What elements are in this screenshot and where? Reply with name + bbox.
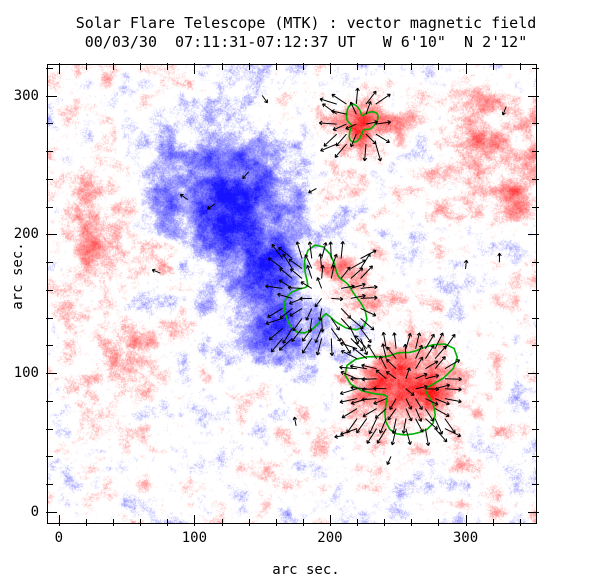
axis-tick-major: [528, 373, 539, 374]
axis-tick: [113, 63, 114, 70]
axis-tick: [532, 456, 539, 457]
field-vector-arrow: [406, 399, 412, 410]
axis-tick: [532, 262, 539, 263]
field-vector-arrow: [361, 328, 372, 342]
axis-tick: [532, 401, 539, 402]
axis-tick: [411, 519, 412, 526]
field-vector-arrow: [369, 419, 377, 434]
axis-tick: [46, 290, 53, 291]
field-vector-arrow: [330, 338, 334, 355]
field-vector-arrow: [435, 333, 443, 349]
field-vector-arrow: [406, 409, 412, 421]
field-vector-arrow: [445, 360, 460, 369]
field-vector-arrow: [406, 389, 414, 396]
axis-tick: [532, 290, 539, 291]
field-vector-arrow: [425, 429, 429, 446]
field-vector-arrow: [293, 417, 297, 426]
axis-tick: [46, 207, 53, 208]
field-vector-arrow: [498, 253, 502, 262]
field-vector-arrow: [319, 121, 337, 125]
axis-tick-major: [330, 515, 331, 526]
axis-tick: [532, 179, 539, 180]
field-vector-arrow: [425, 374, 438, 378]
axis-tick: [384, 519, 385, 526]
field-vector-arrow: [293, 318, 302, 330]
axis-tick: [357, 519, 358, 526]
field-vector-arrow: [336, 134, 346, 146]
axis-tick-major: [194, 515, 195, 526]
axis-tick: [46, 262, 53, 263]
field-vector-arrow: [361, 285, 378, 289]
axis-tick: [167, 519, 168, 526]
field-vector-arrow: [272, 244, 283, 258]
field-vector-arrow: [416, 373, 428, 378]
axis-tick: [46, 68, 53, 69]
field-vector-arrow: [315, 298, 322, 307]
field-vector-arrow: [331, 318, 339, 330]
axis-tick: [140, 63, 141, 70]
field-vector-arrow: [268, 258, 282, 269]
field-vector-arrow: [331, 297, 343, 301]
axis-tick: [46, 123, 53, 124]
axis-tick: [249, 63, 250, 70]
field-contour: [347, 104, 379, 142]
axis-tick: [276, 63, 277, 70]
x-axis-title: arc sec.: [0, 562, 612, 578]
field-vector-arrow: [392, 419, 396, 434]
axis-tick: [493, 63, 494, 70]
field-vector-arrow: [362, 398, 377, 402]
field-vector-arrow: [340, 389, 357, 395]
field-vector-arrow: [341, 371, 357, 378]
field-vector-arrow: [373, 387, 386, 391]
field-vector-arrow: [363, 144, 367, 161]
axis-tick: [86, 63, 87, 70]
axis-tick: [46, 484, 53, 485]
axis-tick: [86, 519, 87, 526]
axis-tick: [438, 519, 439, 526]
figure-title: Solar Flare Telescope (MTK) : vector mag…: [0, 14, 612, 33]
field-vector-arrow: [387, 347, 396, 359]
axis-tick: [140, 519, 141, 526]
axis-tick: [222, 63, 223, 70]
field-vector-arrow: [332, 94, 347, 104]
axis-tick: [167, 63, 168, 70]
axis-tick-major: [466, 63, 467, 74]
field-vector-arrow: [291, 269, 303, 279]
axis-tick-major: [46, 96, 57, 97]
plot-frame: [47, 64, 537, 524]
field-vector-arrow: [341, 308, 351, 318]
axis-tick: [532, 484, 539, 485]
field-vector-arrow: [341, 241, 345, 258]
field-vector-arrow: [268, 308, 283, 317]
field-vector-arrow: [377, 429, 386, 444]
field-vector-arrow: [323, 104, 337, 114]
vector-overlay: [48, 65, 536, 523]
axis-tick: [303, 63, 304, 70]
field-vector-arrow: [393, 333, 397, 349]
axis-tick: [46, 318, 53, 319]
field-vector-arrow: [387, 456, 391, 464]
axis-tick: [411, 63, 412, 70]
axis-tick: [46, 429, 53, 430]
axis-tick: [46, 401, 53, 402]
field-vector-arrow: [341, 267, 350, 278]
y-tick-label: 100: [0, 365, 39, 381]
axis-tick-major: [46, 234, 57, 235]
field-contour: [284, 245, 367, 333]
field-vector-arrow: [435, 384, 450, 389]
axis-tick: [532, 123, 539, 124]
figure-root: Solar Flare Telescope (MTK) : vector mag…: [0, 0, 612, 585]
axis-tick-major: [528, 512, 539, 513]
field-vector-arrow: [435, 409, 449, 417]
field-vector-arrow: [356, 88, 360, 104]
figure-subtitle: 00/03/30 07:11:31-07:12:37 UT W 6'10" N …: [0, 33, 612, 52]
plot-area: [48, 65, 536, 523]
axis-tick: [532, 207, 539, 208]
field-vector-arrow: [363, 409, 377, 417]
field-vector-arrow: [464, 260, 468, 269]
field-vector-arrow: [319, 254, 323, 269]
field-vector-arrow: [296, 242, 302, 259]
field-vector-arrow: [208, 204, 215, 209]
y-tick-label: 300: [0, 88, 39, 104]
field-vector-arrow: [333, 124, 346, 130]
field-vector-arrow: [361, 250, 377, 258]
axis-tick-major: [330, 63, 331, 74]
field-vector-arrow: [362, 378, 377, 382]
axis-tick-major: [59, 63, 60, 74]
field-vector-arrow: [335, 435, 344, 439]
field-vector-arrow: [406, 368, 411, 379]
field-vector-arrow: [318, 308, 322, 320]
field-vector-arrow: [387, 359, 397, 368]
field-vector-arrow: [351, 318, 363, 328]
field-vector-arrow: [380, 356, 387, 369]
field-vector-arrow: [406, 333, 412, 348]
axis-tick: [532, 68, 539, 69]
axis-tick: [438, 63, 439, 70]
field-vector-arrow: [316, 338, 321, 355]
field-vector-arrow: [382, 332, 386, 349]
field-vector-arrow: [152, 269, 160, 273]
field-vector-arrow: [243, 172, 249, 179]
field-vector-arrow: [342, 409, 357, 418]
axis-tick: [46, 345, 53, 346]
field-vector-arrow: [279, 280, 292, 288]
axis-tick: [46, 456, 53, 457]
axis-tick: [532, 345, 539, 346]
field-vector-arrow: [390, 399, 396, 410]
axis-tick: [46, 151, 53, 152]
field-vector-arrow: [340, 366, 358, 370]
field-vector-arrow: [308, 318, 312, 332]
field-vector-arrow: [350, 102, 356, 114]
field-vector-arrow: [321, 144, 337, 151]
axis-tick: [384, 63, 385, 70]
field-vector-arrow: [320, 98, 337, 104]
field-vector-arrow: [283, 328, 292, 343]
field-vector-arrow: [416, 357, 423, 369]
field-vector-arrow: [269, 328, 282, 340]
x-tick-label: 300: [436, 530, 496, 546]
field-vector-arrow: [445, 377, 462, 381]
field-vector-arrow: [361, 338, 368, 354]
field-vector-arrow: [180, 194, 187, 199]
axis-tick: [520, 519, 521, 526]
field-vector-arrow: [357, 419, 367, 433]
x-tick-label: 0: [29, 530, 89, 546]
axis-tick: [46, 179, 53, 180]
axis-tick: [276, 519, 277, 526]
field-vector-arrow: [406, 429, 412, 445]
field-vector-arrow: [376, 144, 382, 161]
field-vector-arrow: [388, 409, 396, 420]
axis-tick: [303, 519, 304, 526]
axis-tick: [532, 151, 539, 152]
axis-tick-major: [59, 515, 60, 526]
x-tick-label: 200: [300, 530, 360, 546]
field-vector-arrow: [366, 134, 376, 144]
field-vector-arrow: [265, 285, 282, 289]
field-vector-arrow: [374, 399, 387, 405]
axis-tick-major: [528, 96, 539, 97]
y-tick-label: 0: [0, 504, 39, 520]
field-vector-arrow: [416, 345, 423, 359]
field-vector-arrow: [300, 297, 312, 301]
field-vector-arrow: [367, 429, 377, 444]
field-vector-arrow: [262, 96, 267, 103]
field-vector-arrow: [376, 134, 390, 142]
axis-tick-major: [46, 512, 57, 513]
field-vector-arrow: [376, 94, 391, 104]
axis-tick: [532, 429, 539, 430]
field-vector-arrow: [445, 388, 462, 392]
axis-tick-major: [466, 515, 467, 526]
x-tick-label: 100: [164, 530, 224, 546]
axis-tick: [493, 519, 494, 526]
axis-tick: [520, 63, 521, 70]
axis-tick: [113, 519, 114, 526]
axis-tick-major: [194, 63, 195, 74]
field-contour: [345, 344, 457, 435]
field-vector-arrow: [306, 308, 312, 320]
field-vector-arrow: [266, 318, 283, 324]
figure-title-block: Solar Flare Telescope (MTK) : vector mag…: [0, 14, 612, 52]
field-vector-arrow: [376, 121, 391, 125]
field-vector-arrow: [425, 399, 438, 406]
y-axis-title: arc sec.: [10, 226, 26, 326]
axis-tick: [357, 63, 358, 70]
axis-tick-major: [528, 234, 539, 235]
field-vector-arrow: [289, 259, 302, 268]
axis-tick: [249, 519, 250, 526]
axis-tick-major: [46, 373, 57, 374]
axis-tick: [222, 519, 223, 526]
field-vector-arrow: [402, 419, 406, 434]
field-vector-arrow: [309, 189, 317, 194]
field-vector-arrow: [502, 107, 506, 115]
axis-tick: [532, 318, 539, 319]
field-vector-arrow: [376, 370, 386, 379]
field-vector-arrow: [361, 308, 376, 316]
field-vector-arrow: [386, 372, 396, 379]
field-vector-arrow: [416, 399, 423, 410]
field-vector-arrow: [351, 268, 363, 279]
field-vector-arrow: [317, 278, 322, 289]
